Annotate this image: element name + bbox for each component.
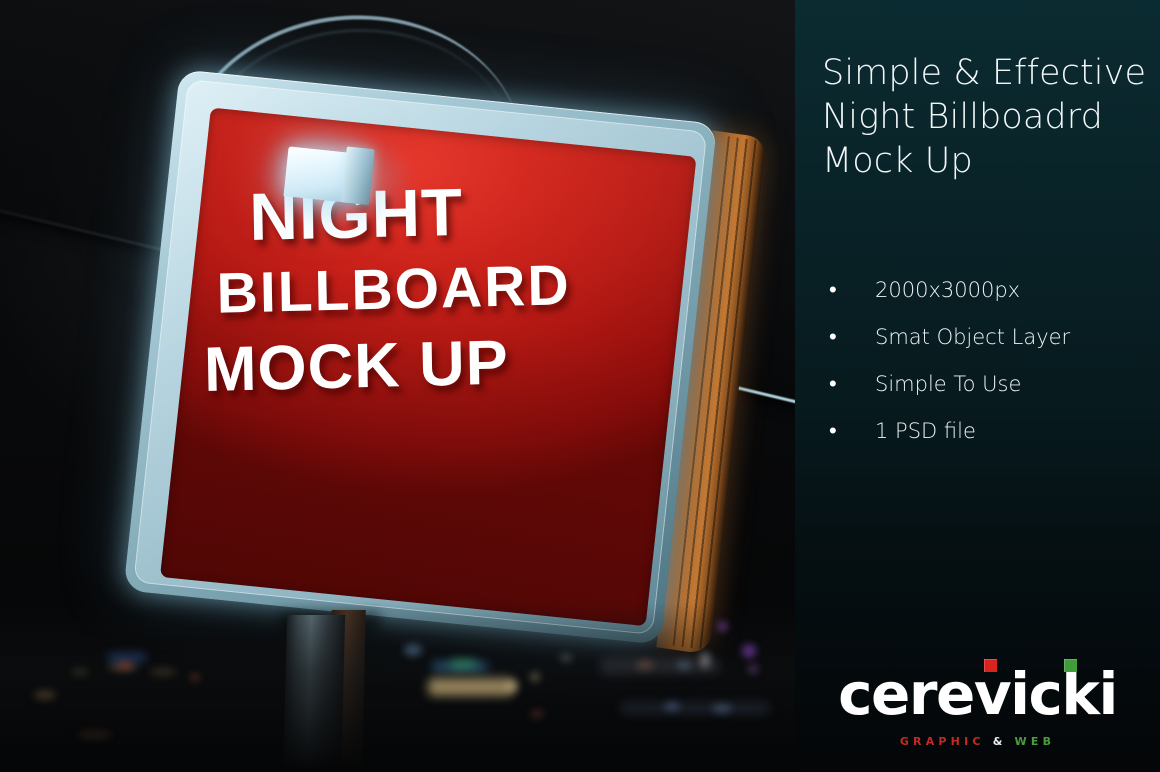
bokeh-light — [118, 662, 132, 668]
bokeh-light — [742, 644, 756, 658]
mockup-preview-canvas: NIGHT BILLBOARD MOCK UP — [0, 0, 1160, 772]
bokeh-light — [108, 654, 146, 661]
headline-line-3: Mock Up — [822, 140, 1152, 184]
city-lights-backdrop — [0, 602, 795, 772]
list-item: • Smat Object Layer — [822, 325, 1152, 372]
billboard-red-face: NIGHT BILLBOARD MOCK UP — [160, 108, 696, 627]
bullet-icon: • — [822, 421, 875, 443]
bokeh-light — [78, 730, 112, 739]
logo-green-square-icon — [1064, 659, 1077, 672]
billboard-photo: NIGHT BILLBOARD MOCK UP — [0, 0, 795, 772]
bokeh-light — [72, 668, 88, 676]
bokeh-light — [190, 674, 200, 681]
feature-label: 1 PSD file — [875, 419, 976, 443]
logo-tagline-graphic: GRAPHIC — [900, 735, 985, 748]
bokeh-light — [636, 660, 654, 670]
list-item: • Simple To Use — [822, 372, 1152, 419]
bullet-icon: • — [822, 327, 875, 349]
feature-label: 2000x3000px — [875, 278, 1020, 302]
bokeh-light — [428, 678, 514, 696]
bokeh-light — [34, 690, 56, 700]
bokeh-light — [530, 710, 544, 718]
bokeh-light — [530, 672, 540, 682]
headline: Simple & Effective Night Billboadrd Mock… — [822, 52, 1152, 183]
bokeh-light — [150, 668, 176, 676]
bokeh-light — [450, 660, 476, 668]
feature-label: Simple To Use — [875, 372, 1021, 396]
list-item: • 1 PSD file — [822, 419, 1152, 466]
bokeh-light — [712, 704, 732, 713]
headline-line-2: Night Billboadrd — [822, 96, 1152, 140]
bokeh-light — [620, 702, 770, 714]
spotlight-fixture — [283, 140, 381, 207]
bokeh-light — [676, 660, 692, 670]
bokeh-light — [700, 652, 710, 668]
bokeh-light — [560, 654, 572, 662]
list-item: • 2000x3000px — [822, 278, 1152, 325]
bokeh-light — [664, 702, 680, 711]
billboard-panel: NIGHT BILLBOARD MOCK UP — [123, 69, 737, 651]
bokeh-light — [748, 664, 758, 674]
logo-wordmark: cerevicki — [838, 665, 1117, 723]
bullet-icon: • — [822, 374, 875, 396]
logo-tagline: GRAPHIC & WEB — [795, 735, 1160, 748]
bokeh-light — [404, 644, 422, 656]
info-pane: Simple & Effective Night Billboadrd Mock… — [795, 0, 1160, 772]
billboard-frame-inner: NIGHT BILLBOARD MOCK UP — [133, 79, 707, 635]
billboard-face-shading — [160, 108, 696, 627]
feature-list: • 2000x3000px • Smat Object Layer • Simp… — [822, 278, 1152, 466]
bokeh-light — [718, 622, 727, 631]
logo-tagline-web: WEB — [1015, 735, 1056, 748]
spotlight-bracket — [341, 146, 375, 205]
billboard-frame: NIGHT BILLBOARD MOCK UP — [123, 69, 717, 645]
brand-logo: cerevicki GRAPHIC & WEB — [795, 665, 1160, 748]
city-darkness — [0, 602, 795, 772]
headline-line-1: Simple & Effective — [822, 52, 1152, 96]
bullet-icon: • — [822, 280, 875, 302]
feature-label: Smat Object Layer — [875, 325, 1070, 349]
logo-tagline-amp: & — [993, 735, 1007, 748]
logo-red-square-icon — [984, 659, 997, 672]
bokeh-light — [506, 680, 518, 692]
